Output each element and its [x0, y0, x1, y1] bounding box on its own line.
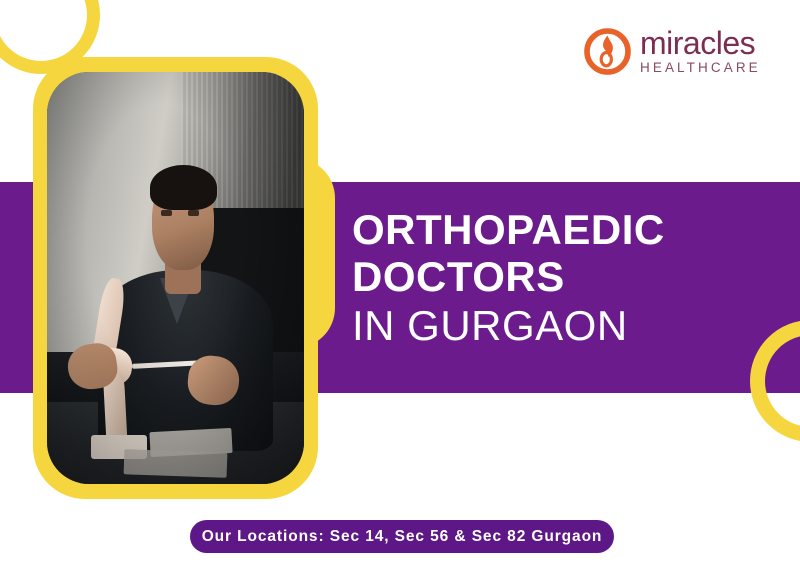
locations-text: Our Locations: Sec 14, Sec 56 & Sec 82 G…: [202, 528, 603, 546]
photo-vignette: [47, 72, 304, 484]
headline-line-1: ORTHOPAEDIC: [352, 206, 752, 253]
headline-line-3: IN GURGAON: [352, 300, 752, 352]
brand-name: miracles: [640, 27, 755, 59]
brand-logo[interactable]: miracles HEALTHCARE: [584, 25, 784, 77]
poster-canvas: ORTHOPAEDIC DOCTORS IN GURGAON miracles …: [0, 0, 800, 566]
brand-logo-words: miracles HEALTHCARE: [640, 27, 761, 75]
doctor-photo: [47, 72, 304, 484]
miracles-flame-circle-logo-icon: [584, 28, 631, 75]
doctor-photo-inner: [47, 72, 304, 484]
brand-tagline: HEALTHCARE: [640, 61, 761, 75]
headline-block: ORTHOPAEDIC DOCTORS IN GURGAON: [352, 206, 752, 352]
locations-banner[interactable]: Our Locations: Sec 14, Sec 56 & Sec 82 G…: [190, 520, 614, 553]
headline-line-2: DOCTORS: [352, 253, 752, 300]
